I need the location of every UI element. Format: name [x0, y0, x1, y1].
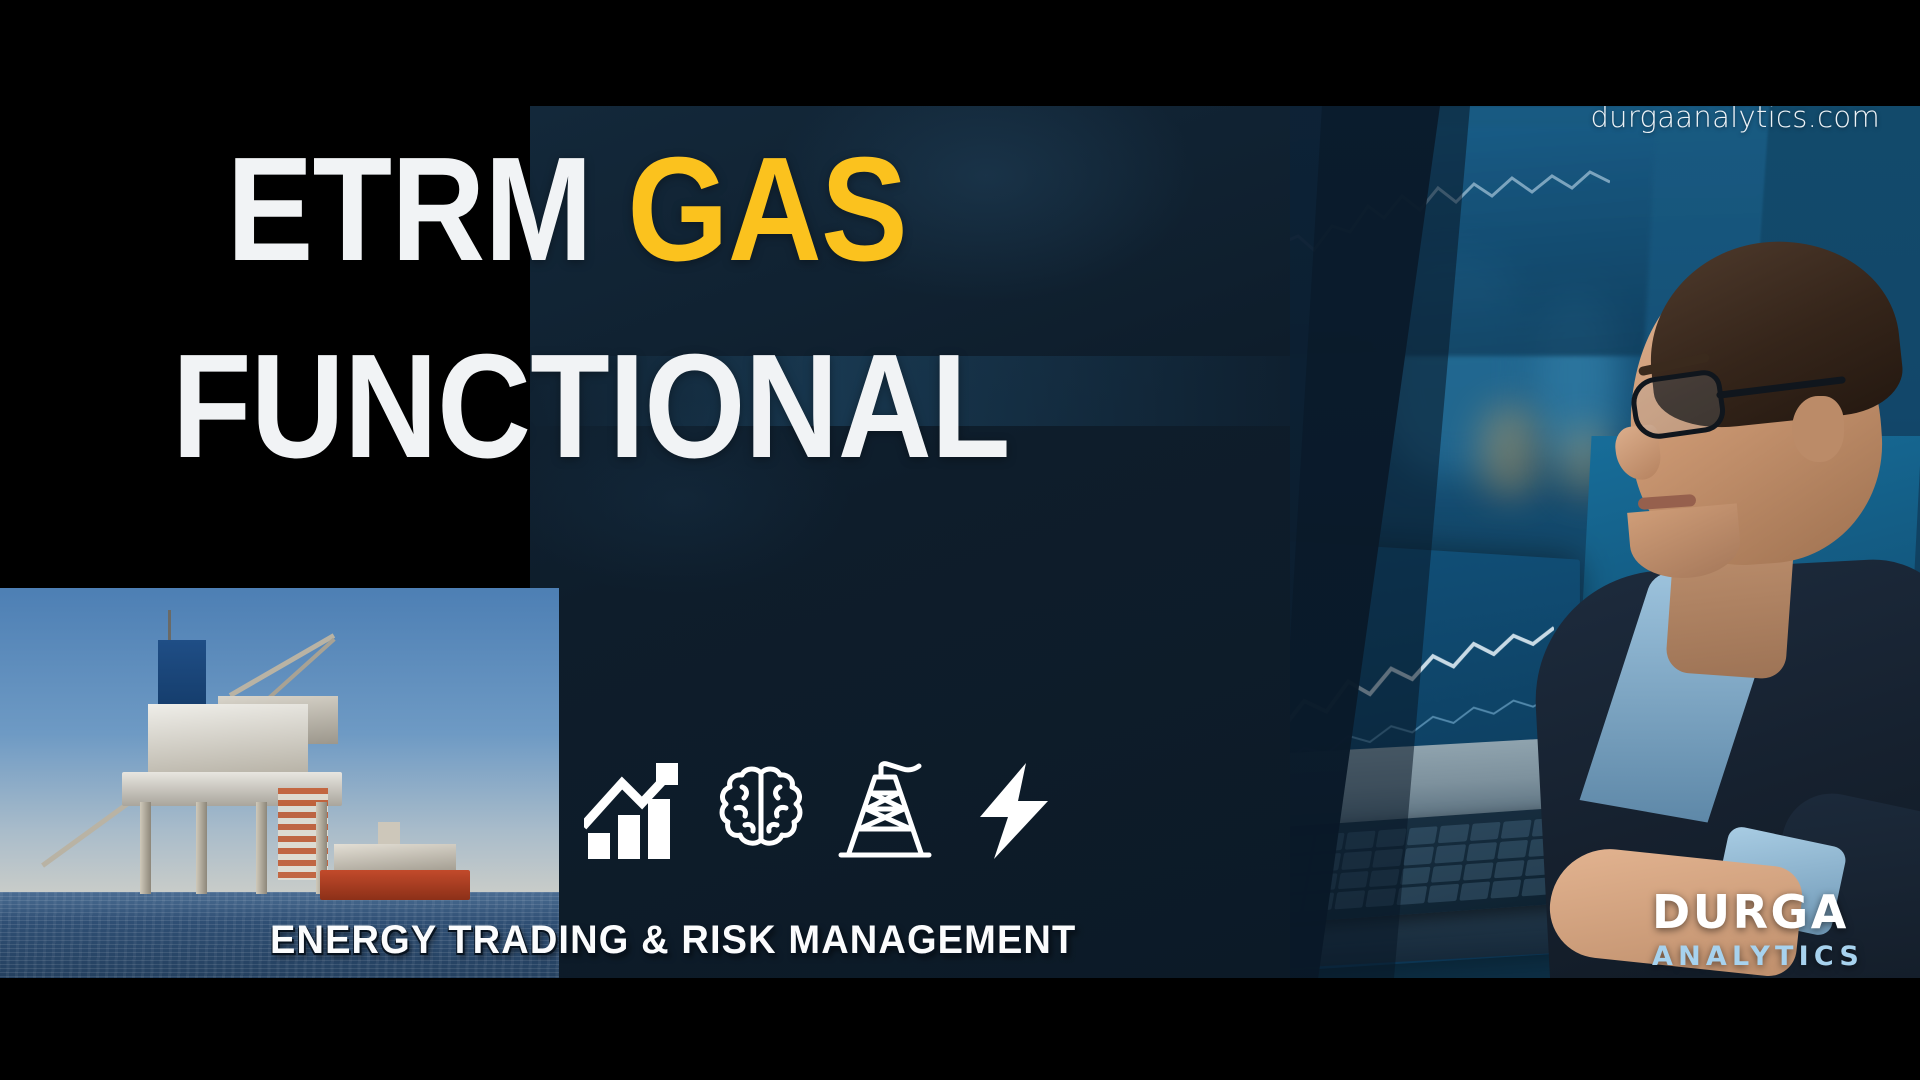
- left-black-block: [0, 106, 530, 588]
- accommodation-block: [148, 704, 308, 774]
- brand-logo[interactable]: DURGA ANALYTICS: [1652, 889, 1864, 970]
- feature-icon-row: [584, 756, 1064, 866]
- platform-leg: [196, 802, 207, 894]
- brain-icon: [711, 761, 811, 861]
- secondary-rig-hull: [320, 870, 470, 900]
- bottom-letterbox-bar: [0, 978, 1920, 1080]
- secondary-rig: [320, 820, 470, 900]
- ear: [1792, 396, 1844, 462]
- tagline: ENERGY TRADING & RISK MANAGEMENT: [270, 918, 1076, 963]
- logo-primary-text: DURGA: [1652, 889, 1864, 935]
- lightning-bolt-icon: [964, 761, 1064, 861]
- oil-derrick-icon: [837, 761, 937, 861]
- bar-chart-growth-icon: [584, 761, 684, 861]
- secondary-rig-deck: [334, 844, 456, 872]
- top-letterbox-bar: [0, 0, 1920, 106]
- trader-person: [1520, 146, 1920, 978]
- mast: [168, 610, 171, 644]
- platform-leg: [140, 802, 151, 894]
- panel-light-streak: [530, 356, 1290, 426]
- banner-canvas: ETRM GAS FUNCTIONAL ENERGY TRADING & RIS…: [0, 0, 1920, 1080]
- logo-secondary-text: ANALYTICS: [1652, 943, 1864, 970]
- drilling-derrick-housing: [158, 640, 206, 708]
- platform-leg: [256, 802, 267, 894]
